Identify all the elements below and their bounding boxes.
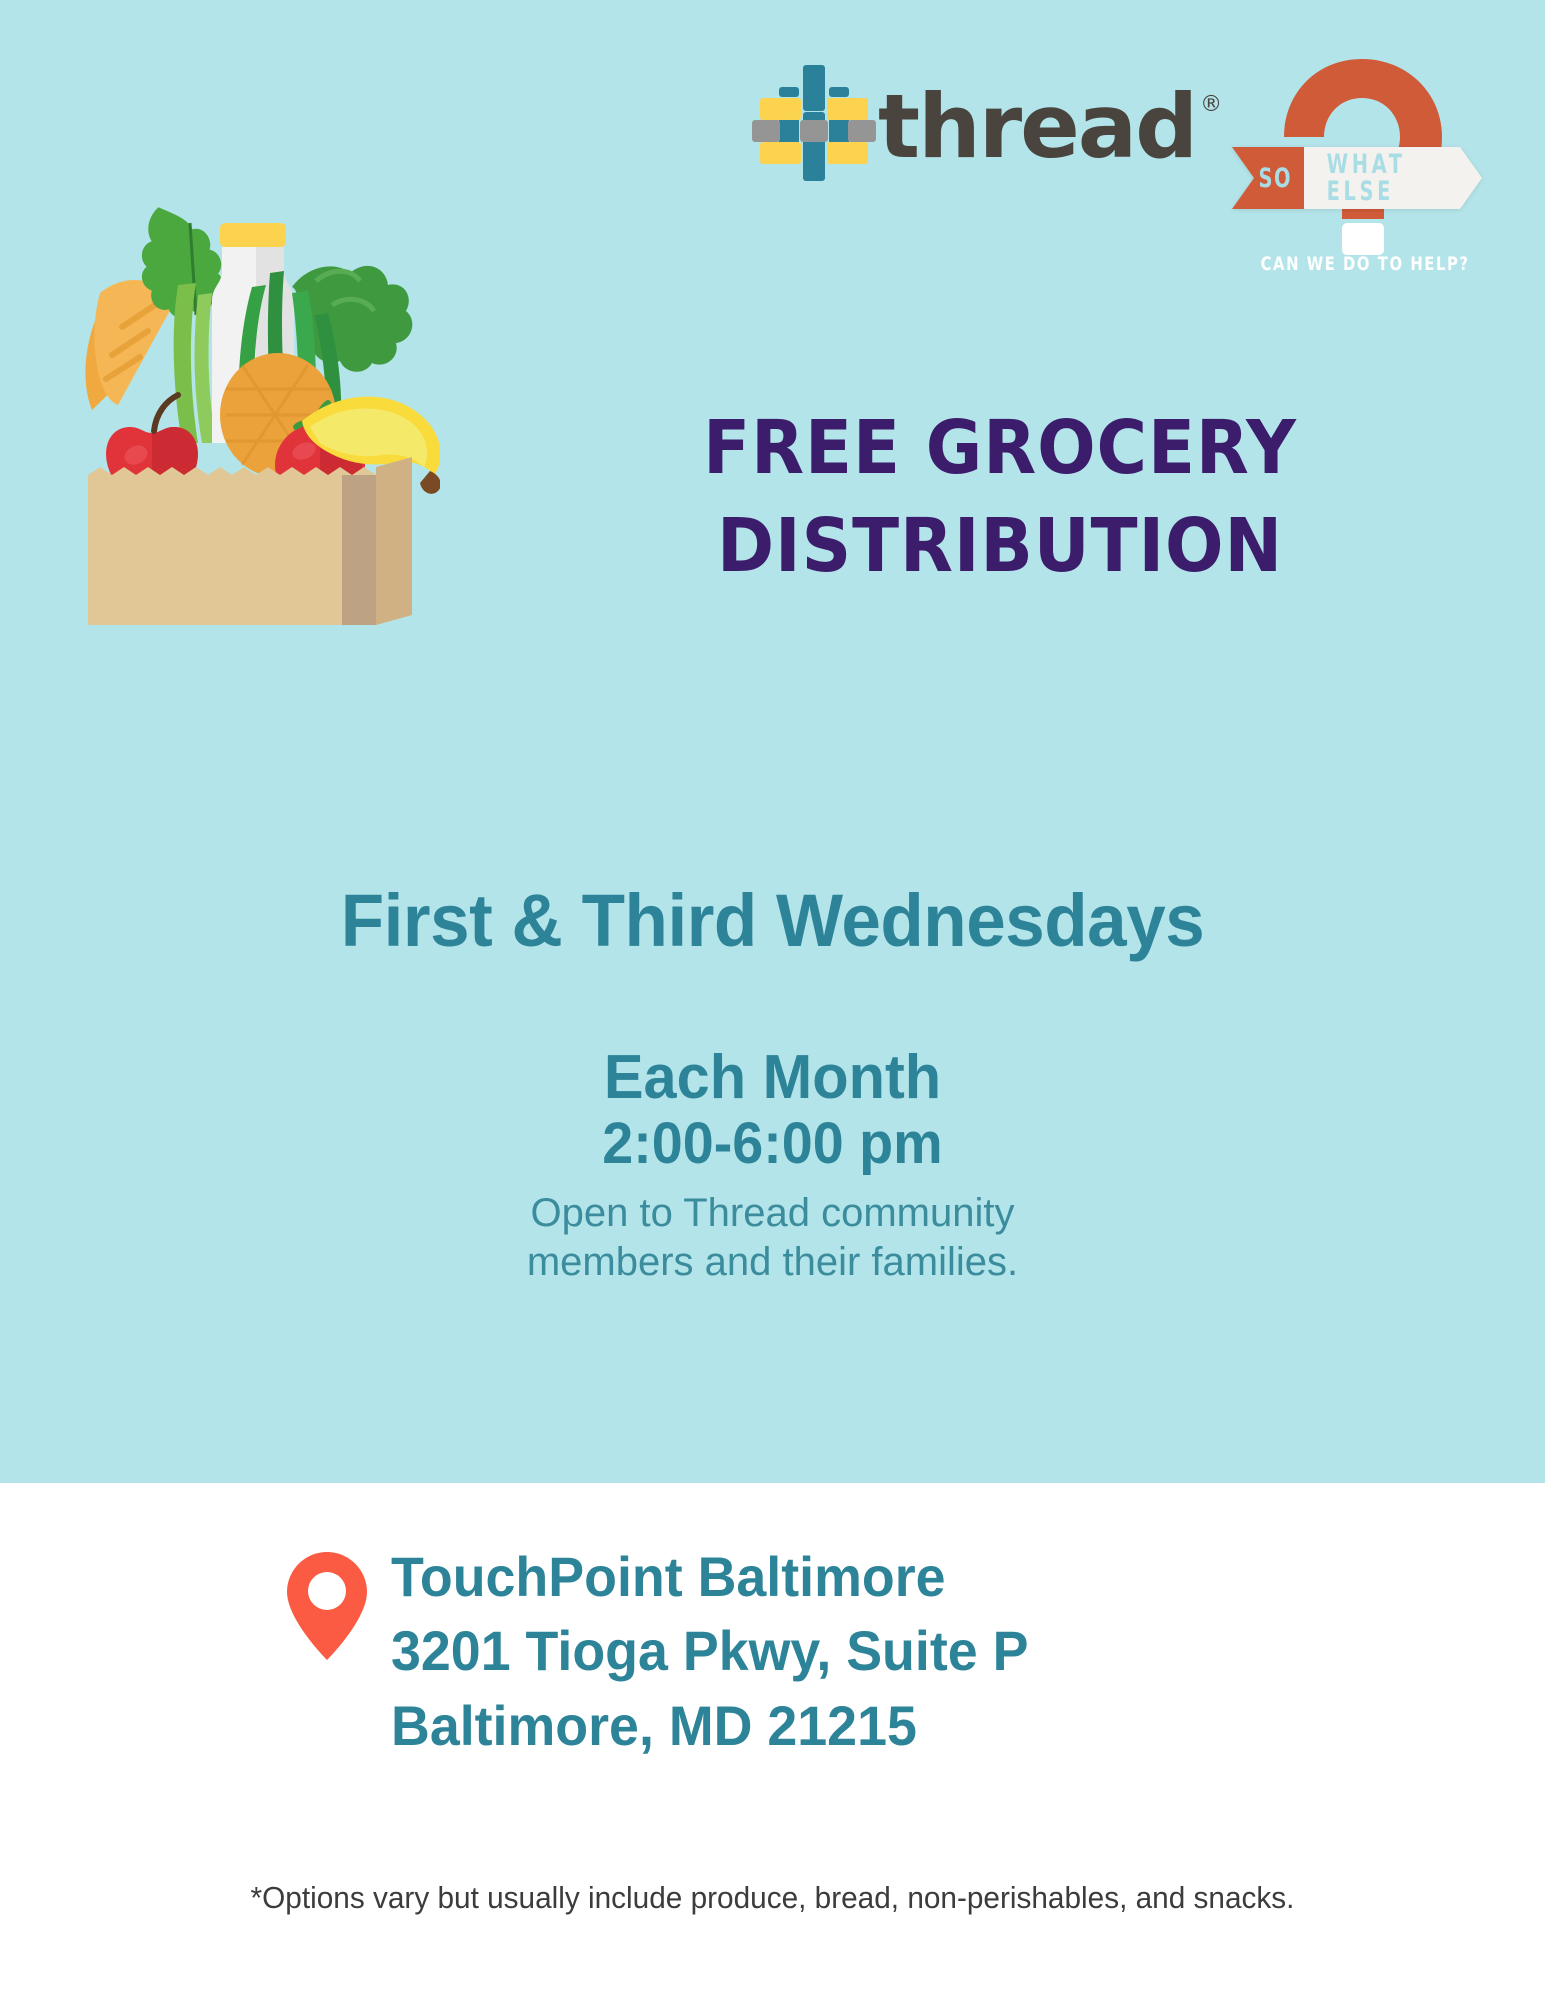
registered-trademark-icon: ®	[1200, 92, 1220, 117]
schedule-note-line-2: members and their families.	[0, 1238, 1545, 1287]
banner-what-else-text: WHAT ELSE	[1327, 151, 1444, 205]
location-citystate: Baltimore, MD 21215	[391, 1689, 1028, 1763]
schedule-note-line-1: Open to Thread community	[0, 1189, 1545, 1238]
footnote: *Options vary but usually include produc…	[31, 1880, 1514, 1916]
map-pin-icon	[285, 1550, 369, 1662]
thread-woven-mark-icon	[760, 65, 866, 181]
location-venue: TouchPoint Baltimore	[391, 1540, 1028, 1614]
so-what-else-logo: SO WHAT ELSE CAN WE DO TO HELP?	[1232, 55, 1492, 287]
location-street: 3201 Tioga Pkwy, Suite P	[391, 1614, 1028, 1688]
flyer-page: thread® SO WHAT ELSE CAN WE DO TO HELP?	[0, 0, 1545, 2000]
thread-wordmark-text: thread	[878, 75, 1196, 178]
headline-line-1: FREE GROCERY	[535, 400, 1465, 498]
page-title: FREE GROCERY DISTRIBUTION	[535, 400, 1465, 595]
banner-right-flag: WHAT ELSE	[1304, 147, 1482, 209]
schedule-time: 2:00-6:00 pm	[31, 1112, 1514, 1177]
banner-so-text: SO	[1258, 165, 1291, 192]
logo-row: thread® SO WHAT ELSE CAN WE DO TO HELP?	[760, 55, 1500, 285]
paper-bag-icon	[88, 457, 412, 625]
thread-logo: thread®	[760, 65, 1216, 181]
address-lines: TouchPoint Baltimore 3201 Tioga Pkwy, Su…	[391, 1540, 1028, 1763]
headline-line-2: DISTRIBUTION	[535, 498, 1465, 596]
thread-wordmark: thread®	[878, 83, 1216, 171]
schedule-note: Open to Thread community members and the…	[0, 1189, 1545, 1287]
schedule-block: First & Third Wednesdays Each Month 2:00…	[0, 880, 1545, 1286]
location-block: TouchPoint Baltimore 3201 Tioga Pkwy, Su…	[285, 1540, 1055, 1763]
so-what-else-banner: SO WHAT ELSE	[1232, 147, 1482, 209]
grocery-bag-illustration	[70, 175, 440, 625]
banner-left-flag: SO	[1232, 147, 1304, 209]
so-what-else-tagline: CAN WE DO TO HELP?	[1261, 253, 1464, 275]
schedule-month: Each Month	[31, 1045, 1514, 1112]
schedule-days: First & Third Wednesdays	[31, 880, 1514, 963]
